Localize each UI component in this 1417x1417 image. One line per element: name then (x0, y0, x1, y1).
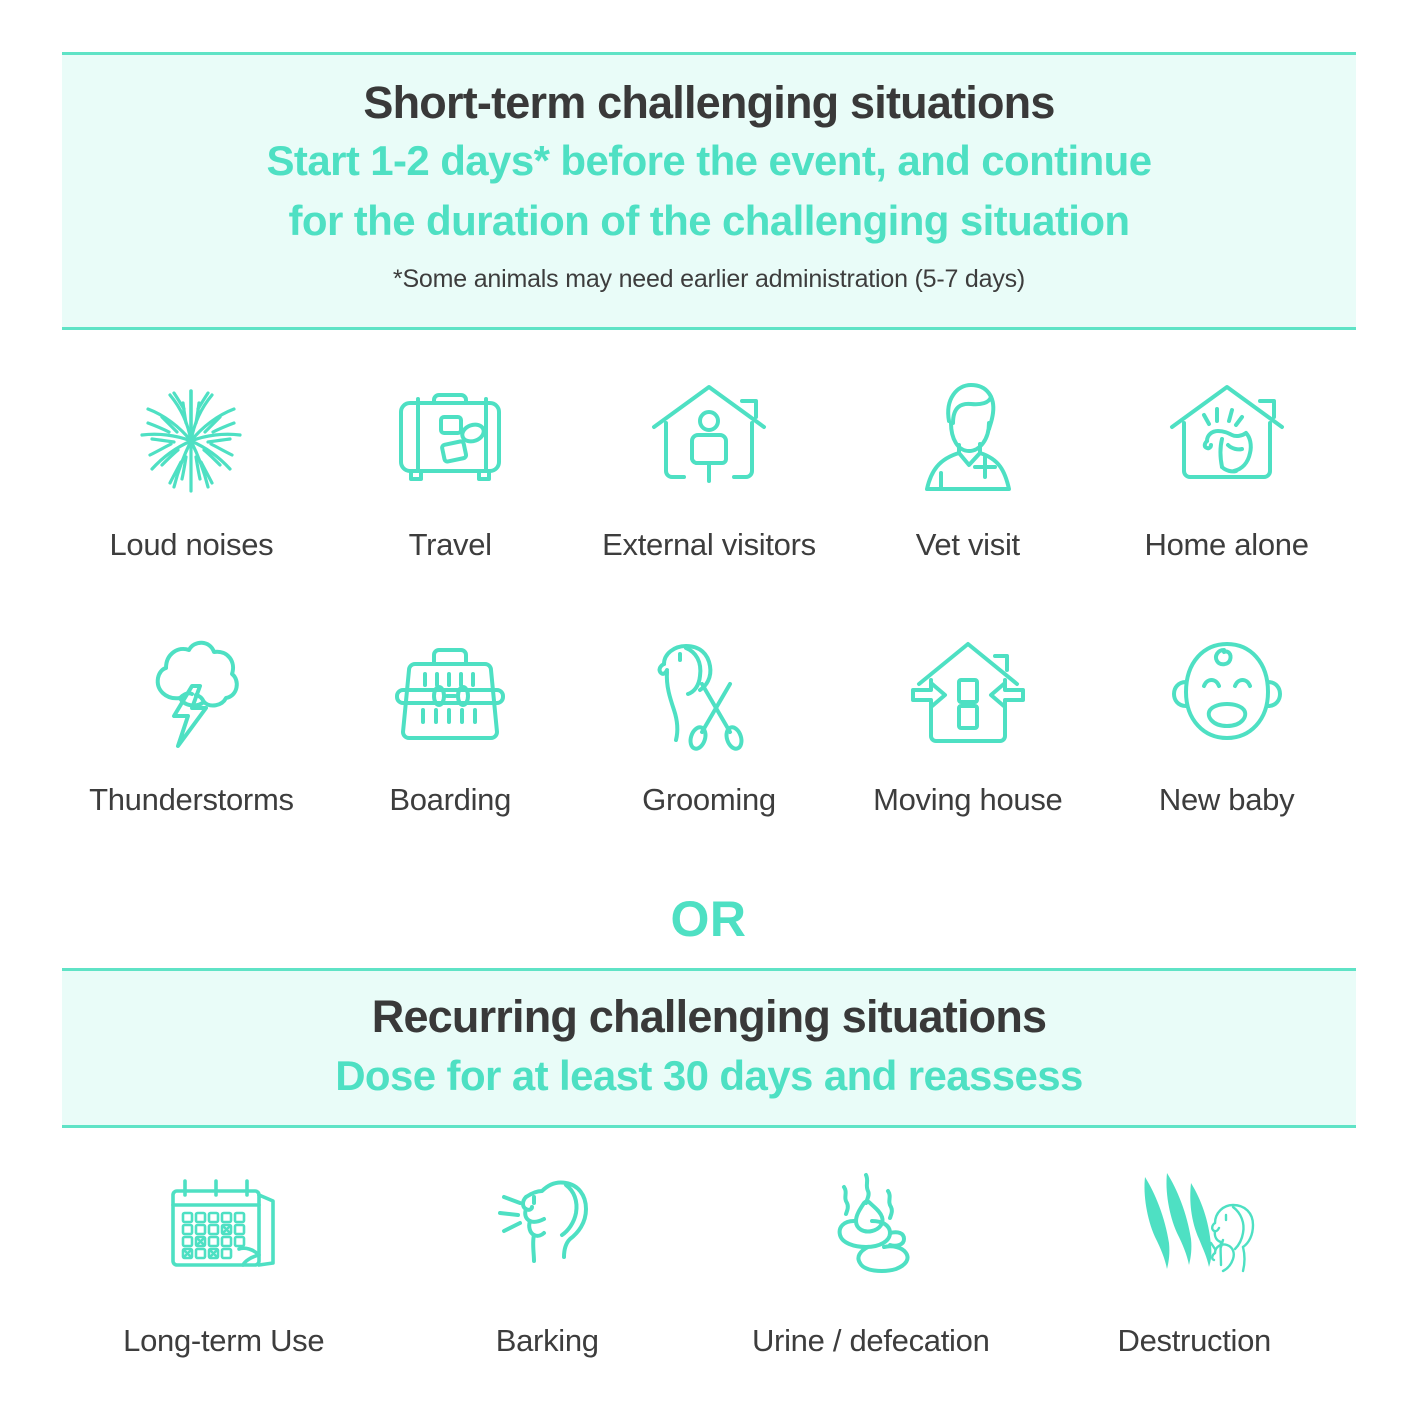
item-grooming: Grooming (580, 625, 839, 818)
calendar-icon (159, 1158, 289, 1293)
short-term-banner: Short-term challenging situations Start … (62, 52, 1356, 330)
recurring-title: Recurring challenging situations (62, 971, 1356, 1040)
crying-baby-icon (1162, 625, 1292, 760)
item-vet-visit: Vet visit (838, 370, 1097, 563)
item-travel: Travel (321, 370, 580, 563)
item-urine-defecation: Urine / defecation (709, 1158, 1033, 1359)
barking-dog-icon (482, 1158, 612, 1293)
item-thunderstorms: Thunderstorms (62, 625, 321, 818)
firework-icon (126, 370, 256, 505)
item-boarding: Boarding (321, 625, 580, 818)
feces-icon (806, 1158, 936, 1293)
item-label: Urine / defecation (752, 1323, 990, 1359)
short-term-subtitle-line2: for the duration of the challenging situ… (62, 186, 1356, 246)
dog-scissors-icon (644, 625, 774, 760)
house-arrows-icon (903, 625, 1033, 760)
item-long-term-use: Long-term Use (62, 1158, 386, 1359)
claw-scratch-icon (1129, 1158, 1259, 1293)
vet-person-icon (903, 370, 1033, 505)
recurring-subtitle: Dose for at least 30 days and reassess (62, 1040, 1356, 1100)
item-external-visitors: External visitors (580, 370, 839, 563)
item-label: Barking (496, 1323, 599, 1359)
item-barking: Barking (386, 1158, 710, 1359)
recurring-banner: Recurring challenging situations Dose fo… (62, 968, 1356, 1128)
item-label: Moving house (873, 782, 1062, 818)
short-term-footnote: *Some animals may need earlier administr… (62, 245, 1356, 294)
pet-carrier-icon (385, 625, 515, 760)
item-label: New baby (1159, 782, 1294, 818)
item-home-alone: Home alone (1097, 370, 1356, 563)
item-label: Long-term Use (123, 1323, 324, 1359)
thundercloud-icon (126, 625, 256, 760)
item-label: Home alone (1145, 527, 1309, 563)
house-visitor-icon (644, 370, 774, 505)
house-howling-dog-icon (1162, 370, 1292, 505)
item-label: Destruction (1118, 1323, 1272, 1359)
short-term-title: Short-term challenging situations (62, 55, 1356, 126)
item-label: Travel (409, 527, 492, 563)
short-term-icon-row-1: Loud noises Travel (62, 370, 1356, 563)
or-divider: OR (0, 890, 1417, 948)
item-label: Boarding (389, 782, 511, 818)
item-label: Grooming (642, 782, 776, 818)
item-new-baby: New baby (1097, 625, 1356, 818)
item-moving-house: Moving house (838, 625, 1097, 818)
item-label: Loud noises (109, 527, 273, 563)
item-label: External visitors (602, 527, 816, 563)
suitcase-icon (385, 370, 515, 505)
short-term-subtitle-line1: Start 1-2 days* before the event, and co… (62, 126, 1356, 186)
short-term-icon-row-2: Thunderstorms Boarding (62, 625, 1356, 818)
item-loud-noises: Loud noises (62, 370, 321, 563)
item-label: Thunderstorms (89, 782, 294, 818)
item-destruction: Destruction (1033, 1158, 1357, 1359)
item-label: Vet visit (916, 527, 1020, 563)
recurring-icon-row: Long-term Use Barking (62, 1158, 1356, 1359)
infographic-page: Short-term challenging situations Start … (0, 0, 1417, 1417)
